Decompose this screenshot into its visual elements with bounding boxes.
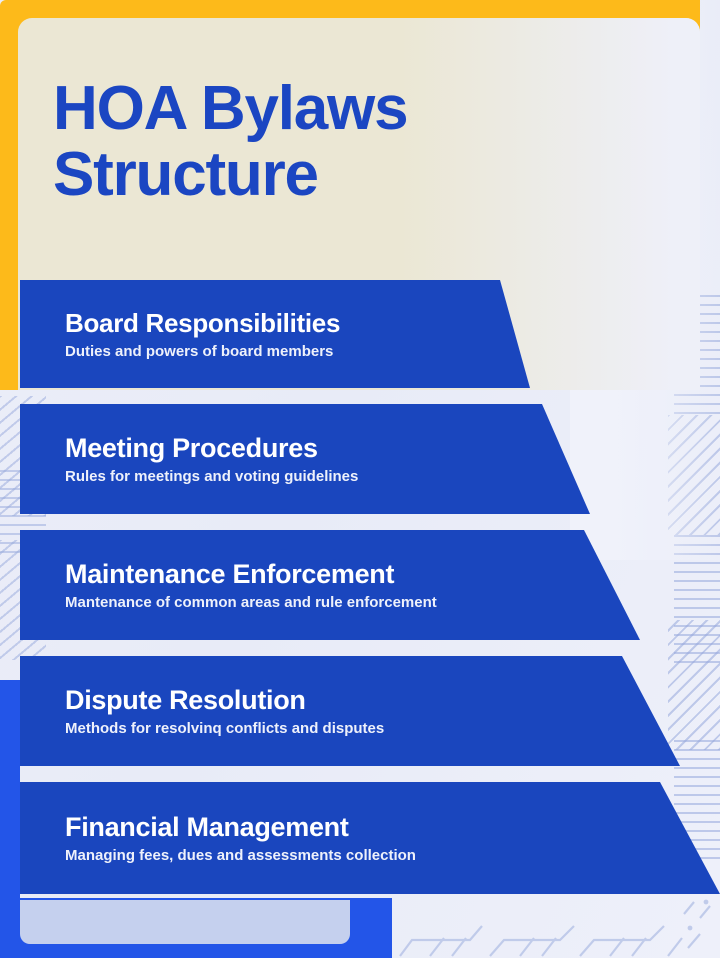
pyramid-level-dispute-resolution[interactable]: Dispute Resolution Methods for resolvinq…	[20, 656, 680, 766]
pyramid-level-meeting-procedures[interactable]: Meeting Procedures Rules for meetings an…	[20, 404, 590, 514]
page-title-line-2: Structure	[53, 142, 593, 208]
pyramid-level-subtitle: Managing fees, dues and assessments coll…	[65, 847, 720, 864]
pyramid-level-subtitle: Duties and powers of board members	[65, 343, 530, 360]
decorative-diagonal-lines-right-lower	[668, 620, 720, 750]
page-title: HOA Bylaws Structure	[53, 76, 593, 207]
pyramid-level-subtitle: Mantenance of common areas and rule enfo…	[65, 594, 640, 611]
infographic-poster: HOA Bylaws Structure Board Responsibilit…	[0, 0, 720, 958]
pyramid-level-title: Board Responsibilities	[65, 308, 530, 339]
pyramid-level-subtitle: Methods for resolvinq conflicts and disp…	[65, 720, 680, 737]
page-title-line-1: HOA Bylaws	[53, 76, 593, 142]
pyramid-level-board-responsibilities[interactable]: Board Responsibilities Duties and powers…	[20, 280, 530, 388]
pyramid-level-maintenance-enforcement[interactable]: Maintenance Enforcement Mantenance of co…	[20, 530, 640, 640]
pyramid-level-title: Meeting Procedures	[65, 433, 590, 464]
pyramid-level-financial-management[interactable]: Financial Management Managing fees, dues…	[20, 782, 720, 894]
pyramid-level-title: Dispute Resolution	[65, 685, 680, 716]
pyramid-level-title: Maintenance Enforcement	[65, 559, 640, 590]
pyramid-level-title: Financial Management	[65, 812, 720, 843]
decorative-diagonal-lines-right-upper	[668, 415, 720, 535]
bottom-light-strip	[20, 900, 350, 944]
decorative-horizontal-lines-right-mid	[674, 535, 720, 665]
pyramid-level-subtitle: Rules for meetings and voting guidelines	[65, 468, 590, 485]
